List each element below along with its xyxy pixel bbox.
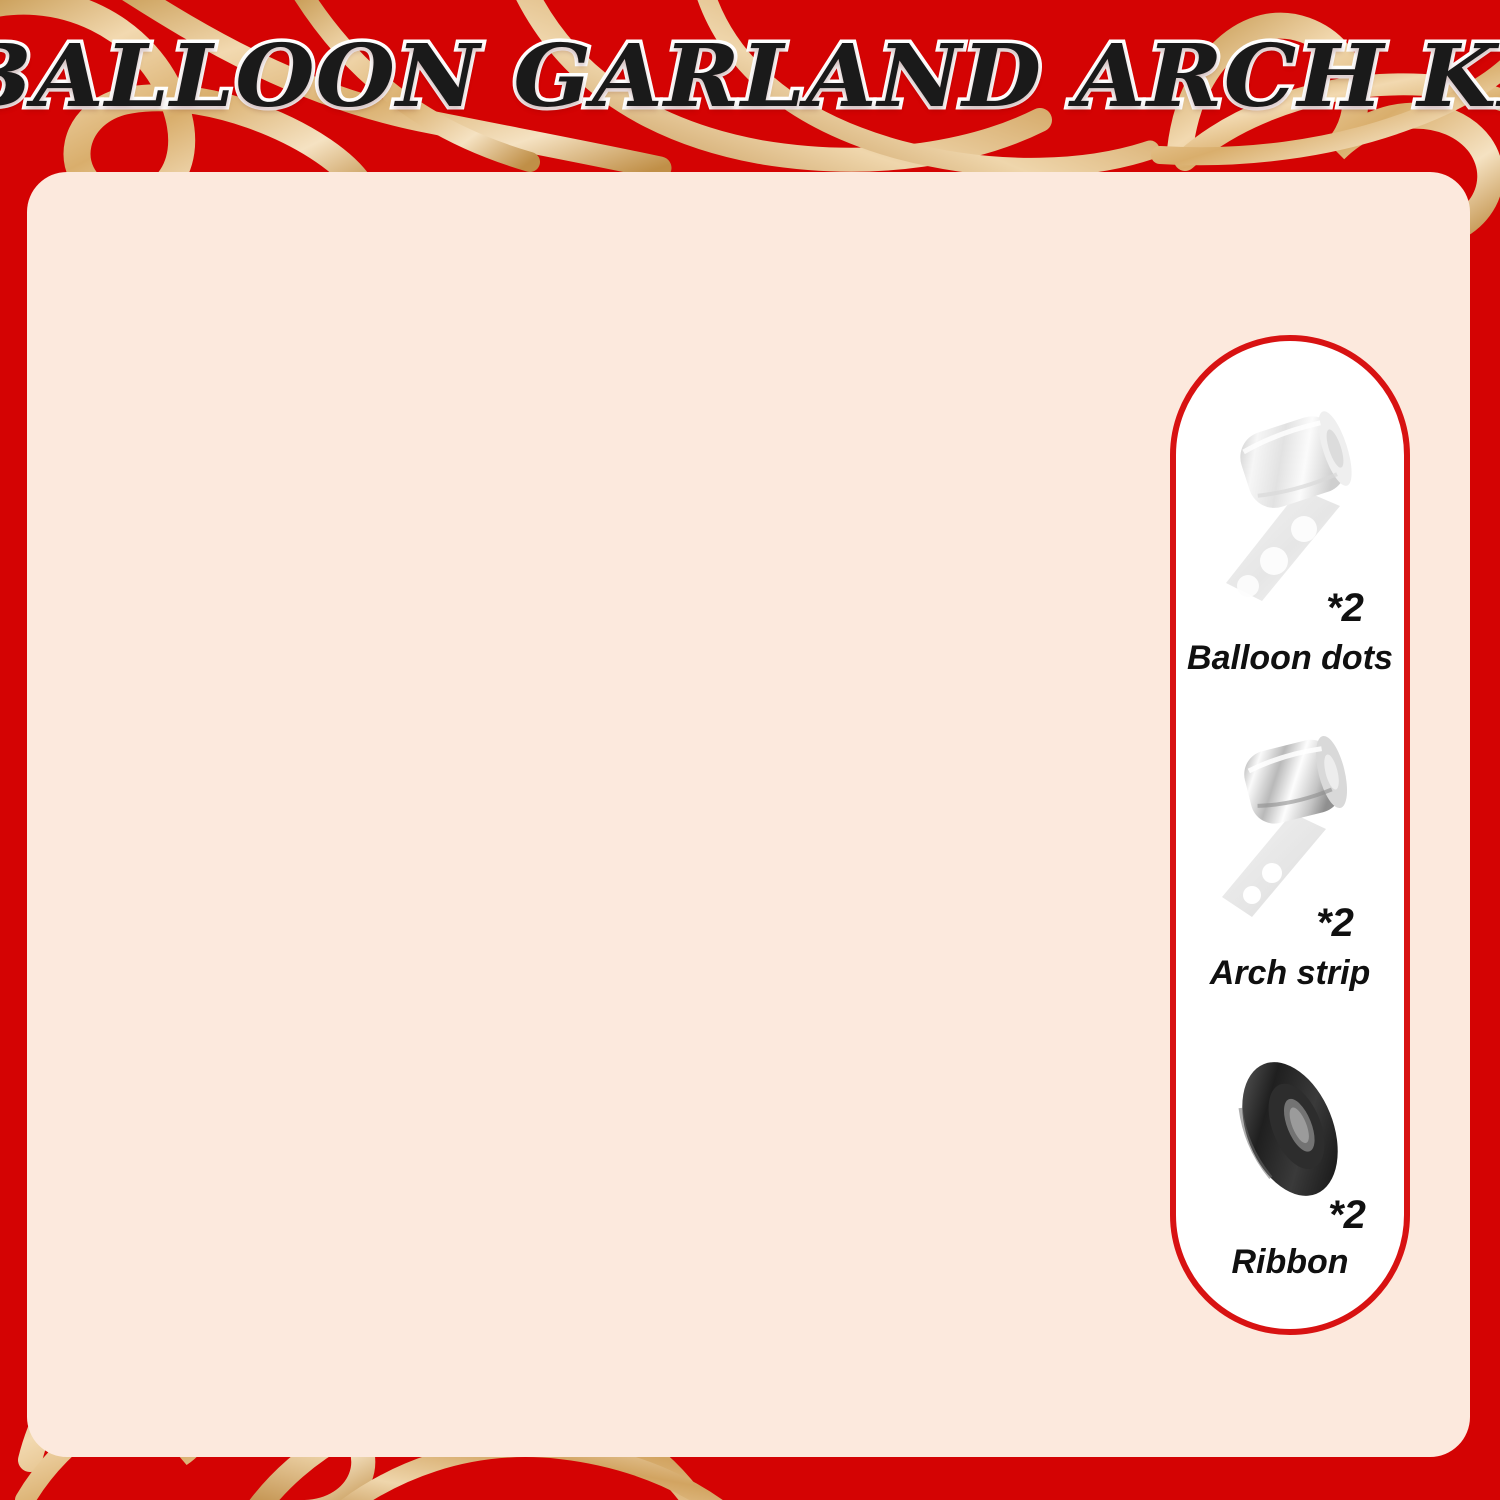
accessory-arch-strip-label: Arch strip (1176, 954, 1404, 993)
accessory-ribbon-label: Ribbon (1176, 1243, 1404, 1282)
accessories-panel: *2 Balloon dots (1170, 335, 1410, 1335)
page-title: BALLOON GARLAND ARCH KIT (0, 26, 1500, 127)
accessory-arch-strip: *2 Arch strip (1176, 711, 1404, 1031)
accessory-ribbon-count: *2 (1328, 1193, 1366, 1238)
product-infographic: BALLOON GARLAND ARCH KIT WHITE 18inch*4 … (0, 0, 1500, 1500)
accessory-ribbon: *2 Ribbon (1176, 1031, 1404, 1331)
accessory-arch-strip-count: *2 (1316, 901, 1354, 946)
accessory-balloon-dots: *2 Balloon dots (1176, 381, 1404, 701)
accessory-balloon-dots-label: Balloon dots (1176, 639, 1404, 678)
accessory-balloon-dots-count: *2 (1326, 586, 1364, 631)
